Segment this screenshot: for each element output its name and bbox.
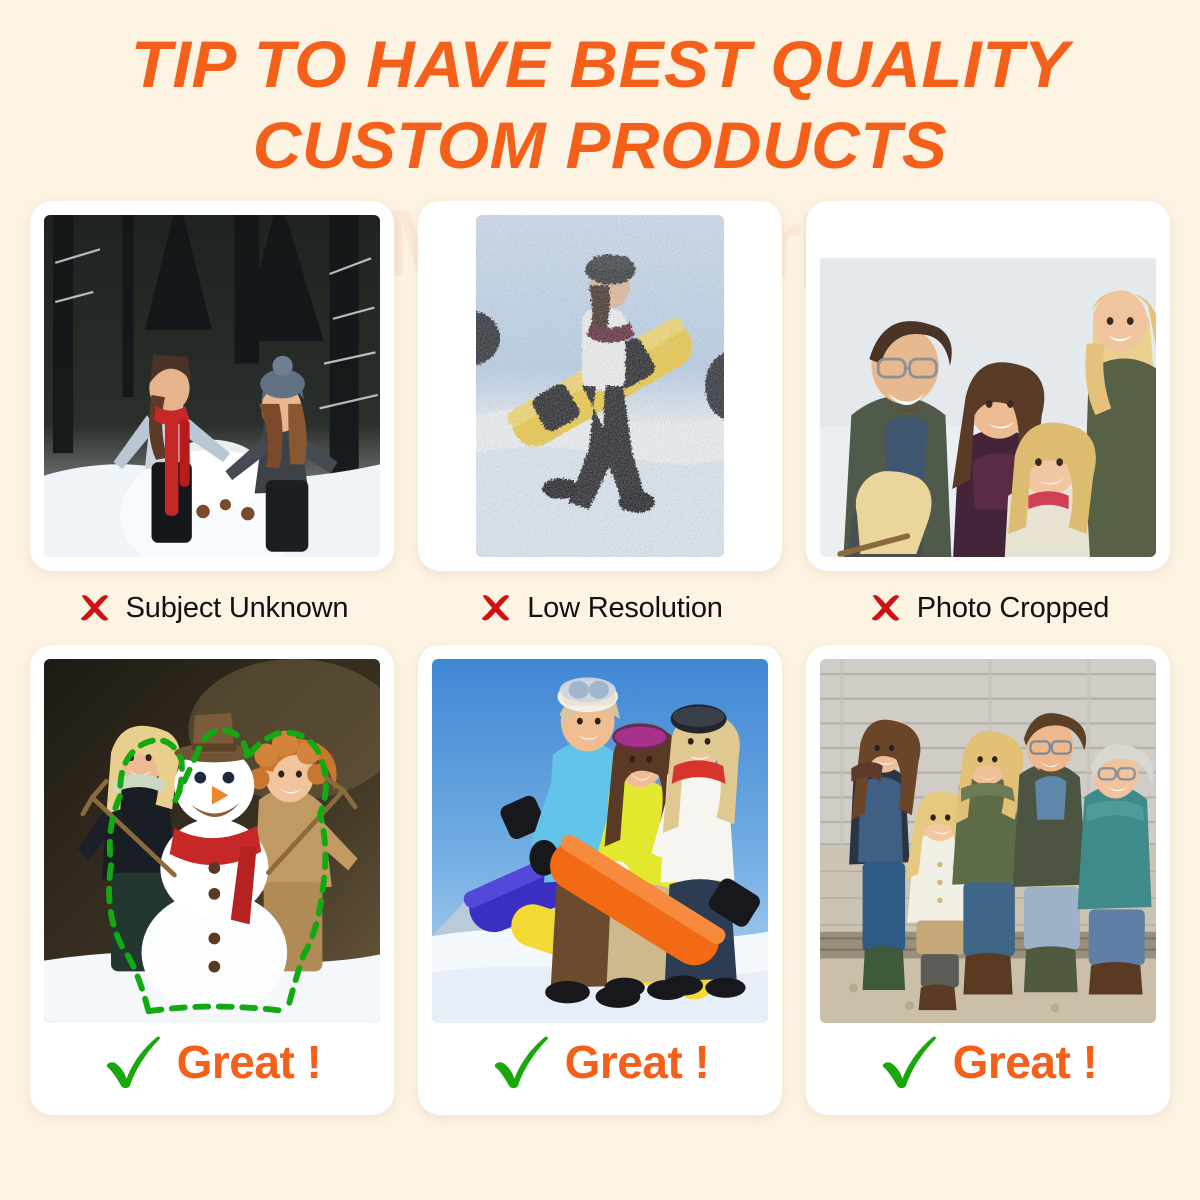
photo-card[interactable]: Great ! — [30, 645, 394, 1115]
photo-family-of-five-by-barn — [820, 659, 1156, 1023]
green-check-icon — [491, 1034, 551, 1090]
example-cell-photo-cropped: Photo Cropped — [806, 201, 1170, 631]
status-label-text: Great ! — [953, 1035, 1098, 1089]
photo-cropped-family-portrait — [820, 215, 1156, 557]
photo-card[interactable] — [30, 201, 394, 571]
status-label-text: Great ! — [177, 1035, 322, 1089]
status-label-photo-cropped: Photo Cropped — [867, 585, 1110, 631]
red-x-icon — [867, 589, 905, 627]
page-title: TIP TO HAVE BEST QUALITY CUSTOM PRODUCTS — [0, 0, 1200, 185]
red-x-icon — [76, 589, 114, 627]
status-label-great-snowboarders: Great ! — [432, 1023, 768, 1101]
status-label-low-resolution: Low Resolution — [477, 585, 723, 631]
photo-two-women-with-snowman-outlined — [44, 659, 380, 1023]
example-cell-low-resolution: Low Resolution — [418, 201, 782, 631]
green-check-icon — [103, 1034, 163, 1090]
photo-card[interactable] — [806, 201, 1170, 571]
status-label-text: Great ! — [565, 1035, 710, 1089]
photo-card[interactable]: Great ! — [806, 645, 1170, 1115]
page-title-line-1: TIP TO HAVE BEST QUALITY — [0, 24, 1200, 105]
example-cell-great-family: Great ! — [806, 645, 1170, 1115]
example-cell-subject-unknown: Subject Unknown — [30, 201, 394, 631]
status-label-text: Photo Cropped — [917, 592, 1110, 625]
status-label-text: Subject Unknown — [126, 592, 349, 625]
page-title-line-2: CUSTOM PRODUCTS — [0, 105, 1200, 186]
example-cell-great-snowboarders: Great ! — [418, 645, 782, 1115]
photo-card[interactable]: Great ! — [418, 645, 782, 1115]
red-x-icon — [477, 589, 515, 627]
green-check-icon — [879, 1034, 939, 1090]
status-label-great-family: Great ! — [820, 1023, 1156, 1101]
photo-three-snowboarders-on-mountain — [432, 659, 768, 1023]
photo-card[interactable] — [418, 201, 782, 571]
example-cell-great-snowman: Great ! — [30, 645, 394, 1115]
status-label-subject-unknown: Subject Unknown — [76, 585, 349, 631]
photo-two-women-building-snowman-in-forest — [44, 215, 380, 557]
status-label-great-snowman: Great ! — [44, 1023, 380, 1101]
status-label-text: Low Resolution — [527, 592, 723, 625]
examples-grid: Subject Unknown — [0, 201, 1200, 1115]
photo-pixelated-snowboarder-walking — [476, 215, 725, 557]
